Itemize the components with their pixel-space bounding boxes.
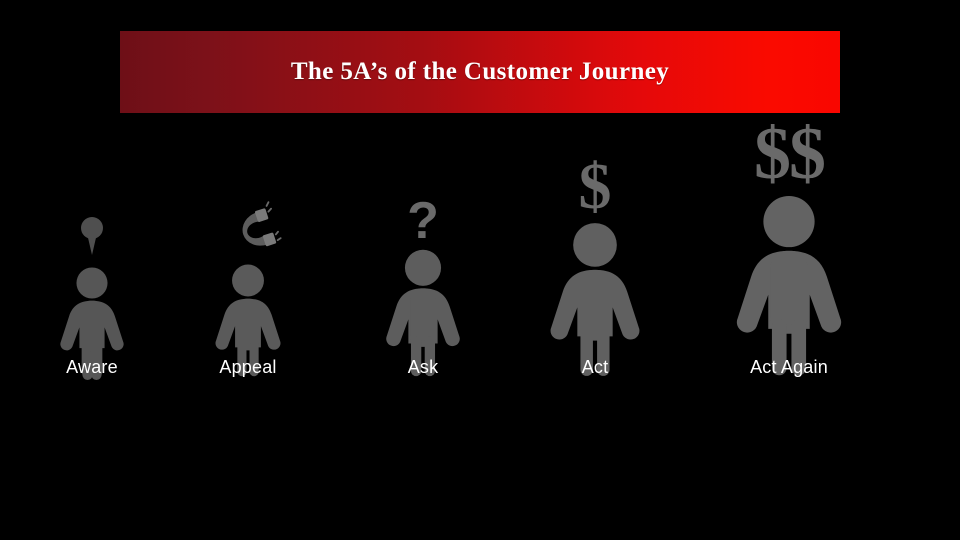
person-icon xyxy=(543,220,647,378)
stage-label-appeal: Appeal xyxy=(178,357,318,378)
symbol-slot-appeal xyxy=(219,208,277,258)
question-mark-icon: ? xyxy=(407,199,439,243)
title-banner: The 5A’s of the Customer Journey xyxy=(120,31,840,113)
customer-journey-figures: Aware xyxy=(0,120,960,420)
magnet-icon xyxy=(219,208,277,258)
person-icon xyxy=(728,192,850,378)
slide-canvas: The 5A’s of the Customer Journey xyxy=(0,0,960,540)
person-slot-act xyxy=(543,220,647,378)
symbol-slot-act-again: $$ xyxy=(754,121,824,188)
dollar-sign-icon: $ xyxy=(579,157,612,216)
stage-label-act-again: Act Again xyxy=(705,357,873,378)
symbol-slot-act: $ xyxy=(579,157,612,216)
symbol-slot-aware xyxy=(79,215,105,261)
journey-stage-aware[interactable]: Aware xyxy=(22,215,162,378)
double-dollar-sign-icon: $$ xyxy=(754,121,824,188)
journey-stage-ask[interactable]: ? Ask xyxy=(352,199,494,378)
stage-label-ask: Ask xyxy=(352,357,494,378)
stage-label-aware: Aware xyxy=(22,357,162,378)
journey-stage-appeal[interactable]: Appeal xyxy=(178,208,318,378)
person-slot-act-again xyxy=(728,192,850,378)
page-title: The 5A’s of the Customer Journey xyxy=(291,58,669,86)
journey-stage-act[interactable]: $ Act xyxy=(520,157,670,378)
stage-label-act: Act xyxy=(520,357,670,378)
symbol-slot-ask: ? xyxy=(407,199,439,243)
lightbulb-icon xyxy=(79,215,105,261)
journey-stage-act-again[interactable]: $$ Act Again xyxy=(705,121,873,378)
